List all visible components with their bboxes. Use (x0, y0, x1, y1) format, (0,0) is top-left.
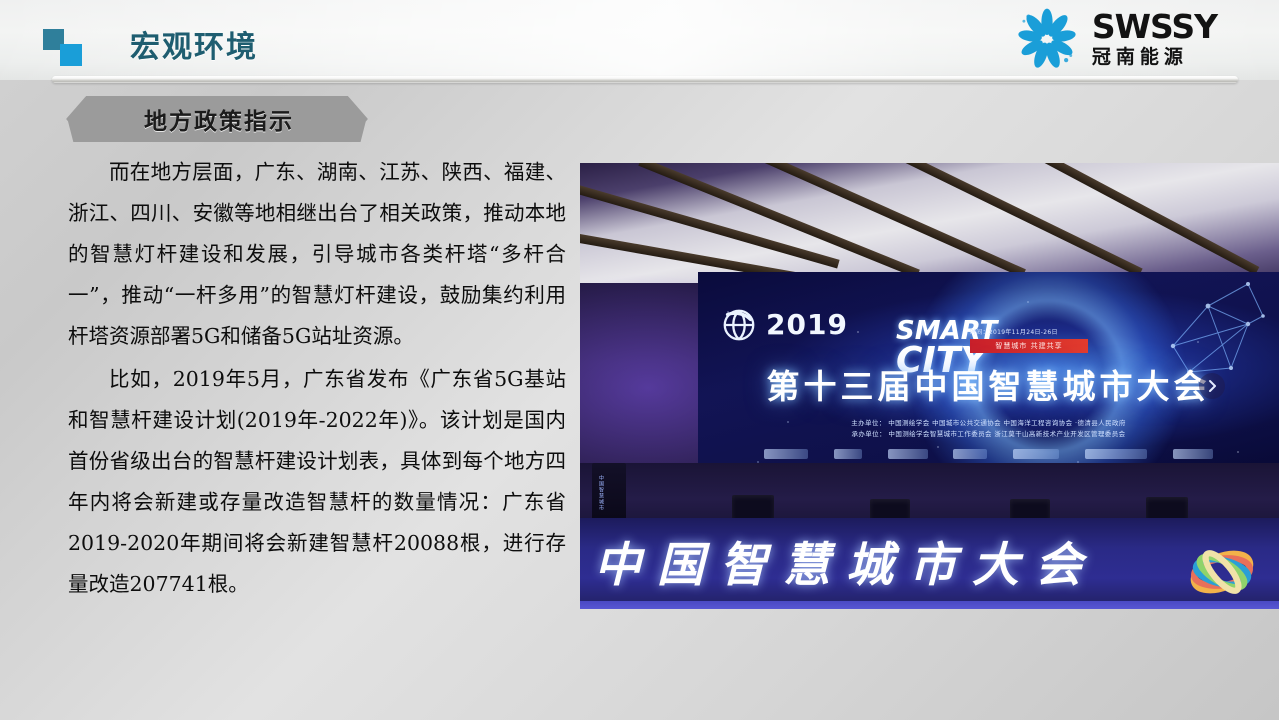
header-divider (52, 76, 1238, 83)
header-square-bright-icon (60, 44, 82, 66)
paragraph-1: 而在地方层面，广东、湖南、江苏、陕西、福建、浙江、四川、安徽等地相继出台了相关政… (68, 152, 566, 357)
podium-label: 中国智慧城市 (596, 475, 604, 511)
logo-name-cn: 冠南能源 (1092, 44, 1188, 68)
led-organizer-lines: 主办单位： 中国测绘学会 中国城市公共交通协会 中国海洋工程咨询协会 ·德清县人… (698, 418, 1279, 440)
stage-front-banner: 中国智慧城市大会 (580, 518, 1279, 604)
led-screen: 2019 SMART CITY 时间：2019年11月24日-26日 智慧城市 … (698, 272, 1279, 474)
body-text: 而在地方层面，广东、湖南、江苏、陕西、福建、浙江、四川、安徽等地相继出台了相关政… (68, 152, 566, 605)
led-red-tagline: 智慧城市 共建共享 (970, 339, 1088, 353)
led-main-title: 第十三届中国智慧城市大会 (698, 360, 1279, 408)
led-organizer-line-2: 承办单位： 中国测绘学会智慧城市工作委员会 浙江莫干山高新技术产业开发区管理委员… (698, 429, 1279, 440)
chevron-right-icon[interactable] (1205, 379, 1219, 393)
photo-foreground-floor (580, 601, 1279, 609)
logo-name-en: SWSSY (1092, 10, 1217, 43)
section-banner-label: 地方政策指示 (66, 96, 368, 142)
led-organizer-line-1: 主办单位： 中国测绘学会 中国城市公共交通协会 中国海洋工程咨询协会 ·德清县人… (698, 418, 1279, 429)
company-logo: SWSSY 冠南能源 (1014, 6, 1217, 72)
logo-text-block: SWSSY 冠南能源 (1092, 10, 1217, 68)
led-date-line: 时间：2019年11月24日-26日 (970, 327, 1058, 336)
paragraph-2: 比如，2019年5月，广东省发布《广东省5G基站和智慧杆建设计划(2019年-2… (68, 359, 566, 605)
globe-logo-icon (720, 306, 758, 344)
led-year: 2019 (766, 308, 848, 341)
conference-photo: 2019 SMART CITY 时间：2019年11月24日-26日 智慧城市 … (580, 163, 1279, 609)
section-banner: 地方政策指示 (66, 96, 368, 142)
colorful-ribbon-sphere-icon (1183, 533, 1261, 609)
slide-header: 宏观环境 SWS (0, 0, 1279, 80)
photo-next-arrow[interactable] (1199, 373, 1225, 399)
page-title: 宏观环境 (130, 22, 258, 66)
led-sponsor-logos (764, 448, 1213, 460)
blue-petal-flower-icon (1014, 6, 1080, 72)
front-banner-text: 中国智慧城市大会 (594, 526, 1279, 595)
